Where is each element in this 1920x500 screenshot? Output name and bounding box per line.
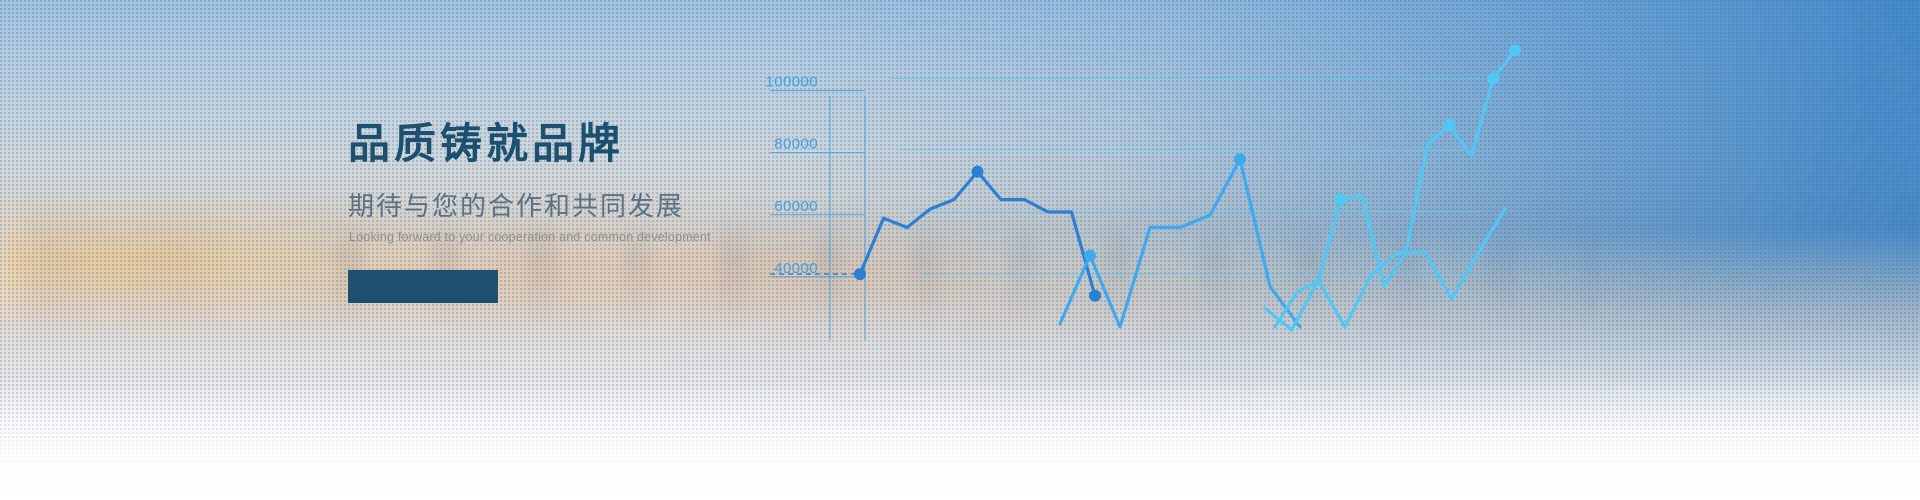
series-line-series-3: [1275, 51, 1515, 327]
y-tick-label-3: 100000: [766, 74, 818, 91]
y-tick-label-1: 60000: [774, 198, 818, 215]
chart-y-axis-labels: 400006000080000100000: [766, 74, 818, 277]
y-tick-label-0: 40000: [774, 260, 818, 277]
data-point-marker[interactable]: [1335, 194, 1347, 206]
data-point-marker[interactable]: [1444, 119, 1456, 131]
series-line-series-1: [860, 172, 1095, 296]
data-point-marker[interactable]: [1509, 45, 1521, 57]
chart-series: [854, 45, 1521, 331]
chart-canvas: 400006000080000100000: [760, 0, 1920, 500]
data-point-marker[interactable]: [854, 268, 866, 280]
data-point-marker[interactable]: [972, 166, 984, 178]
series-line-series-2: [1060, 159, 1300, 327]
data-point-marker[interactable]: [1084, 250, 1096, 262]
data-point-marker[interactable]: [1234, 153, 1246, 165]
line-chart: 400006000080000100000: [760, 0, 1920, 500]
data-point-marker[interactable]: [1487, 73, 1499, 85]
cta-button[interactable]: [348, 270, 498, 303]
chart-axis: [770, 91, 865, 340]
y-tick-label-2: 80000: [774, 136, 818, 153]
series-line-series-4: [1265, 209, 1505, 330]
hero-banner: 品质铸就品牌 期待与您的合作和共同发展 Looking forward to y…: [0, 0, 1920, 500]
data-point-marker[interactable]: [1089, 290, 1101, 302]
